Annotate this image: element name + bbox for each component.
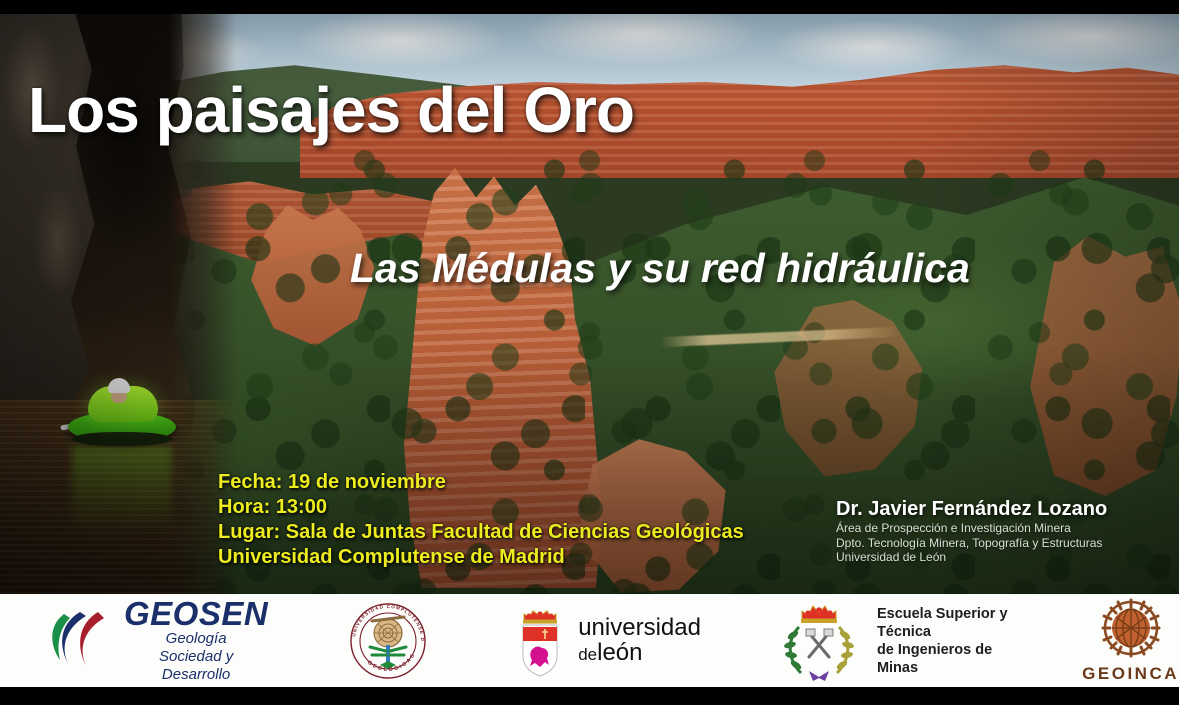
event-date: Fecha: 19 de noviembre: [218, 470, 744, 495]
geosen-tagline-1: Geología: [124, 630, 268, 648]
minas-line-1: Escuela Superior y Técnica: [877, 605, 1020, 641]
ule-line-2-prefix: de: [578, 645, 597, 664]
ule-line-2-main: león: [597, 639, 642, 666]
geosen-wordmark: GEOSEN Geología Sociedad y Desarrollo: [124, 597, 268, 684]
speaker-affiliation-2: Dpto. Tecnología Minera, Topografía y Es…: [836, 536, 1166, 551]
speaker-name: Dr. Javier Fernández Lozano: [836, 498, 1166, 521]
ule-line-1: universidad: [578, 615, 701, 640]
event-institution: Universidad Complutense de Madrid: [218, 545, 744, 570]
poster-root: Los paisajes del Oro Las Médulas y su re…: [0, 0, 1179, 705]
minas-crown-wreath-icon: [771, 599, 867, 683]
ule-wordmark: universidad deleón: [578, 615, 701, 667]
event-details: Fecha: 19 de noviembre Hora: 13:00 Lugar…: [218, 470, 744, 570]
logo-universidad-de-leon: universidad deleón: [514, 594, 701, 687]
geosen-swoosh-icon: [34, 606, 118, 676]
geosen-name: GEOSEN: [124, 597, 268, 630]
caving-helmet-icon: [108, 378, 130, 393]
logo-escuela-minas: Escuela Superior y Técnica de Ingenieros…: [771, 594, 1020, 687]
logo-geosen: GEOSEN Geología Sociedad y Desarrollo: [34, 594, 268, 687]
speaker-affiliation-1: Área de Prospección e Investigación Mine…: [836, 521, 1166, 536]
ucm-seal-icon: UNIVERSIDAD COMPLUTENSE DE MADRID GEOLÓG…: [346, 599, 430, 683]
letterbox-bar-bottom: [0, 687, 1179, 705]
minas-line-2: de Ingenieros de Minas: [877, 641, 1020, 677]
logo-ucm-geologicas: UNIVERSIDAD COMPLUTENSE DE MADRID GEOLÓG…: [346, 594, 430, 687]
ule-crowned-shield-icon: [514, 604, 566, 678]
raft-reflection: [72, 446, 172, 566]
geoinca-gear-globe-icon: [1098, 598, 1164, 660]
logo-geoinca: GEOINCA: [1082, 594, 1179, 687]
poster-title: Los paisajes del Oro: [28, 73, 634, 147]
geoinca-name: GEOINCA: [1082, 664, 1179, 684]
sponsor-logo-bar: GEOSEN Geología Sociedad y Desarrollo: [0, 594, 1179, 687]
event-place: Lugar: Sala de Juntas Facultad de Cienci…: [218, 520, 744, 545]
cave-tunnel-darkness: [58, 0, 198, 330]
packraft-shadow: [72, 432, 172, 446]
letterbox-bar-top: [0, 0, 1179, 14]
ule-line-2: deleón: [578, 640, 701, 667]
event-time: Hora: 13:00: [218, 495, 744, 520]
poster-subtitle: Las Médulas y su red hidráulica: [350, 245, 970, 292]
minas-wordmark: Escuela Superior y Técnica de Ingenieros…: [877, 605, 1020, 677]
speaker-affiliation-3: Universidad de León: [836, 550, 1166, 565]
geosen-tagline-2: Sociedad y Desarrollo: [124, 648, 268, 684]
speaker-block: Dr. Javier Fernández Lozano Área de Pros…: [836, 498, 1166, 565]
